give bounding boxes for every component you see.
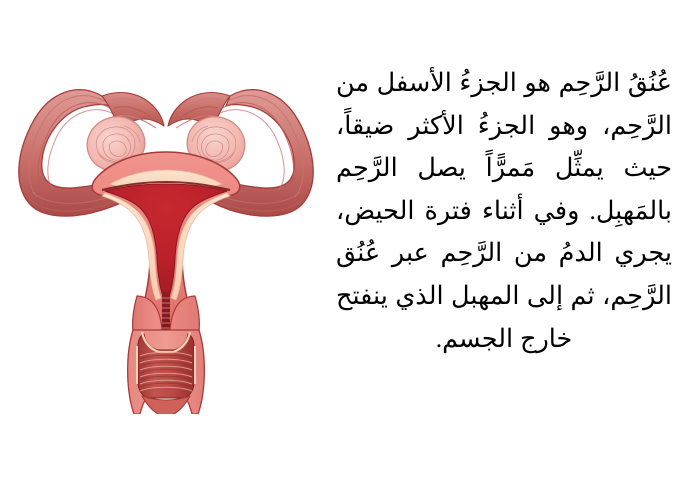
vaginal-introitus [142, 396, 190, 414]
slide-canvas: عُنُقُ الرَّحِم هو الجزءُ الأسفل من الرَ… [0, 0, 700, 480]
text-pane: عُنُقُ الرَّحِم هو الجزءُ الأسفل من الرَ… [336, 62, 672, 360]
female-reproductive-system-diagram [6, 34, 326, 414]
illustration-pane [0, 0, 330, 480]
body-paragraph: عُنُقُ الرَّحِم هو الجزءُ الأسفل من الرَ… [336, 62, 672, 360]
